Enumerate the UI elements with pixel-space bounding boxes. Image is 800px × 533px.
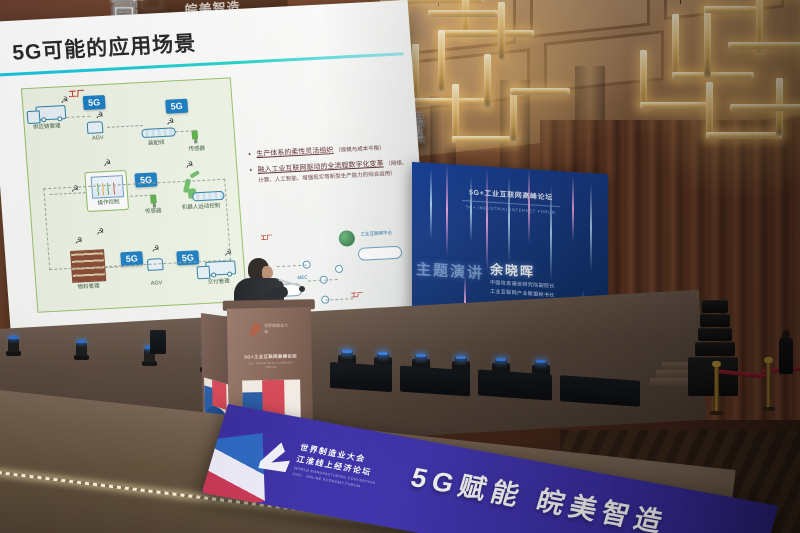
podium-badge-en: 5G+ INDUSTRIAL INTERNET FORUM: [244, 361, 298, 370]
stanchion-post: [714, 366, 719, 412]
network-factory-tag: 工厂: [260, 232, 273, 242]
speaker-titles: 中国信息通信研究院副院长 工业互联网产业联盟秘书长: [490, 279, 555, 300]
geometric-chandelier-left: [398, 0, 588, 162]
stage-monitor-box: [560, 375, 640, 407]
truck-icon: [35, 105, 66, 121]
wifi-icon: ☭: [184, 160, 196, 170]
attendant-body: [779, 337, 793, 374]
stage-monitor-box: [330, 362, 392, 392]
slide-title: 5G可能的应用场景: [11, 27, 197, 67]
wifi-icon: ☭: [164, 117, 176, 127]
podium-logo-mark: [249, 322, 261, 335]
wifi-icon: ☭: [101, 159, 113, 169]
geometric-chandelier-right: [620, 0, 800, 166]
factory-diagram: 工厂 ☭ 5G 供应链管理 ☭ AGV ☭ 5G 装配线 传感器: [21, 77, 247, 312]
wmc-logo-block: 世界制造业大会 江淮线上经济论坛 WORLD MANUFACTURING CON…: [267, 434, 385, 456]
stage-monitor-box: [478, 369, 552, 400]
sensor-icon: [191, 130, 198, 139]
podium-forum-badge: 5G+工业互联网高峰论坛 5G+ INDUSTRIAL INTERNET FOR…: [244, 354, 298, 370]
node-label: 物料管理: [68, 283, 108, 292]
podium-logo: 世界制造业大会: [249, 322, 289, 337]
moving-head-light: [74, 340, 89, 360]
standing-attendant: [778, 330, 794, 374]
globe-icon: [338, 230, 355, 247]
moving-head-light: [6, 336, 21, 356]
conveyor-icon: [141, 127, 176, 138]
wifi-icon: ☭: [59, 96, 71, 106]
platform-tag: 工业互联网平台: [360, 230, 392, 238]
node-label: AGV: [136, 279, 176, 288]
node-label: 装配线: [136, 139, 176, 148]
stage-equipment-case: [150, 330, 166, 354]
bullet-text: 生产体系的柔性灵活组织: [256, 147, 333, 158]
stage-monitor-box: [400, 366, 470, 397]
node-label: 传感器: [177, 145, 217, 154]
speaker-name: 余晓晖: [490, 259, 535, 281]
podium-logo-text: 世界制造业大会: [264, 323, 289, 335]
cloud-icon: [358, 246, 403, 261]
bullet-item: 融入工业互联网驱动的全流程数字化变革 （网络、计算、人工智能、增强现实等新型生产…: [249, 158, 410, 187]
agv-icon: [87, 121, 104, 134]
stanchion-post: [766, 362, 771, 408]
conference-stage-scene: 能 皖 美 智 造 皖美智造 5G+工业互联网高峰论坛 5G可能的应用场景 工厂…: [0, 0, 800, 533]
badge-5g: 5G: [165, 99, 188, 114]
keynote-section-label: 主题演讲: [416, 258, 484, 283]
slide-bullet-list: 生产体系的柔性灵活组织 （规模与成本平衡） 融入工业互联网驱动的全流程数字化变革…: [248, 142, 411, 192]
mec-tag: MEC: [297, 275, 307, 281]
presentation-slide: 5G可能的应用场景 工厂 ☭ 5G 供应链管理 ☭ AGV ☭ 5G 装配线: [0, 0, 432, 351]
node-label: AGV: [78, 134, 118, 143]
badge-5g: 5G: [83, 95, 106, 110]
microphone-head-icon: [299, 286, 305, 292]
podium-badge-cn: 5G+工业互联网高峰论坛: [244, 354, 298, 361]
wifi-icon: ☭: [94, 111, 106, 121]
projection-screen: 5G可能的应用场景 工厂 ☭ 5G 供应链管理 ☭ AGV ☭ 5G 装配线: [0, 0, 432, 351]
bullet-note: （规模与成本平衡）: [335, 145, 385, 154]
node-label: 供应链管理: [27, 123, 67, 132]
